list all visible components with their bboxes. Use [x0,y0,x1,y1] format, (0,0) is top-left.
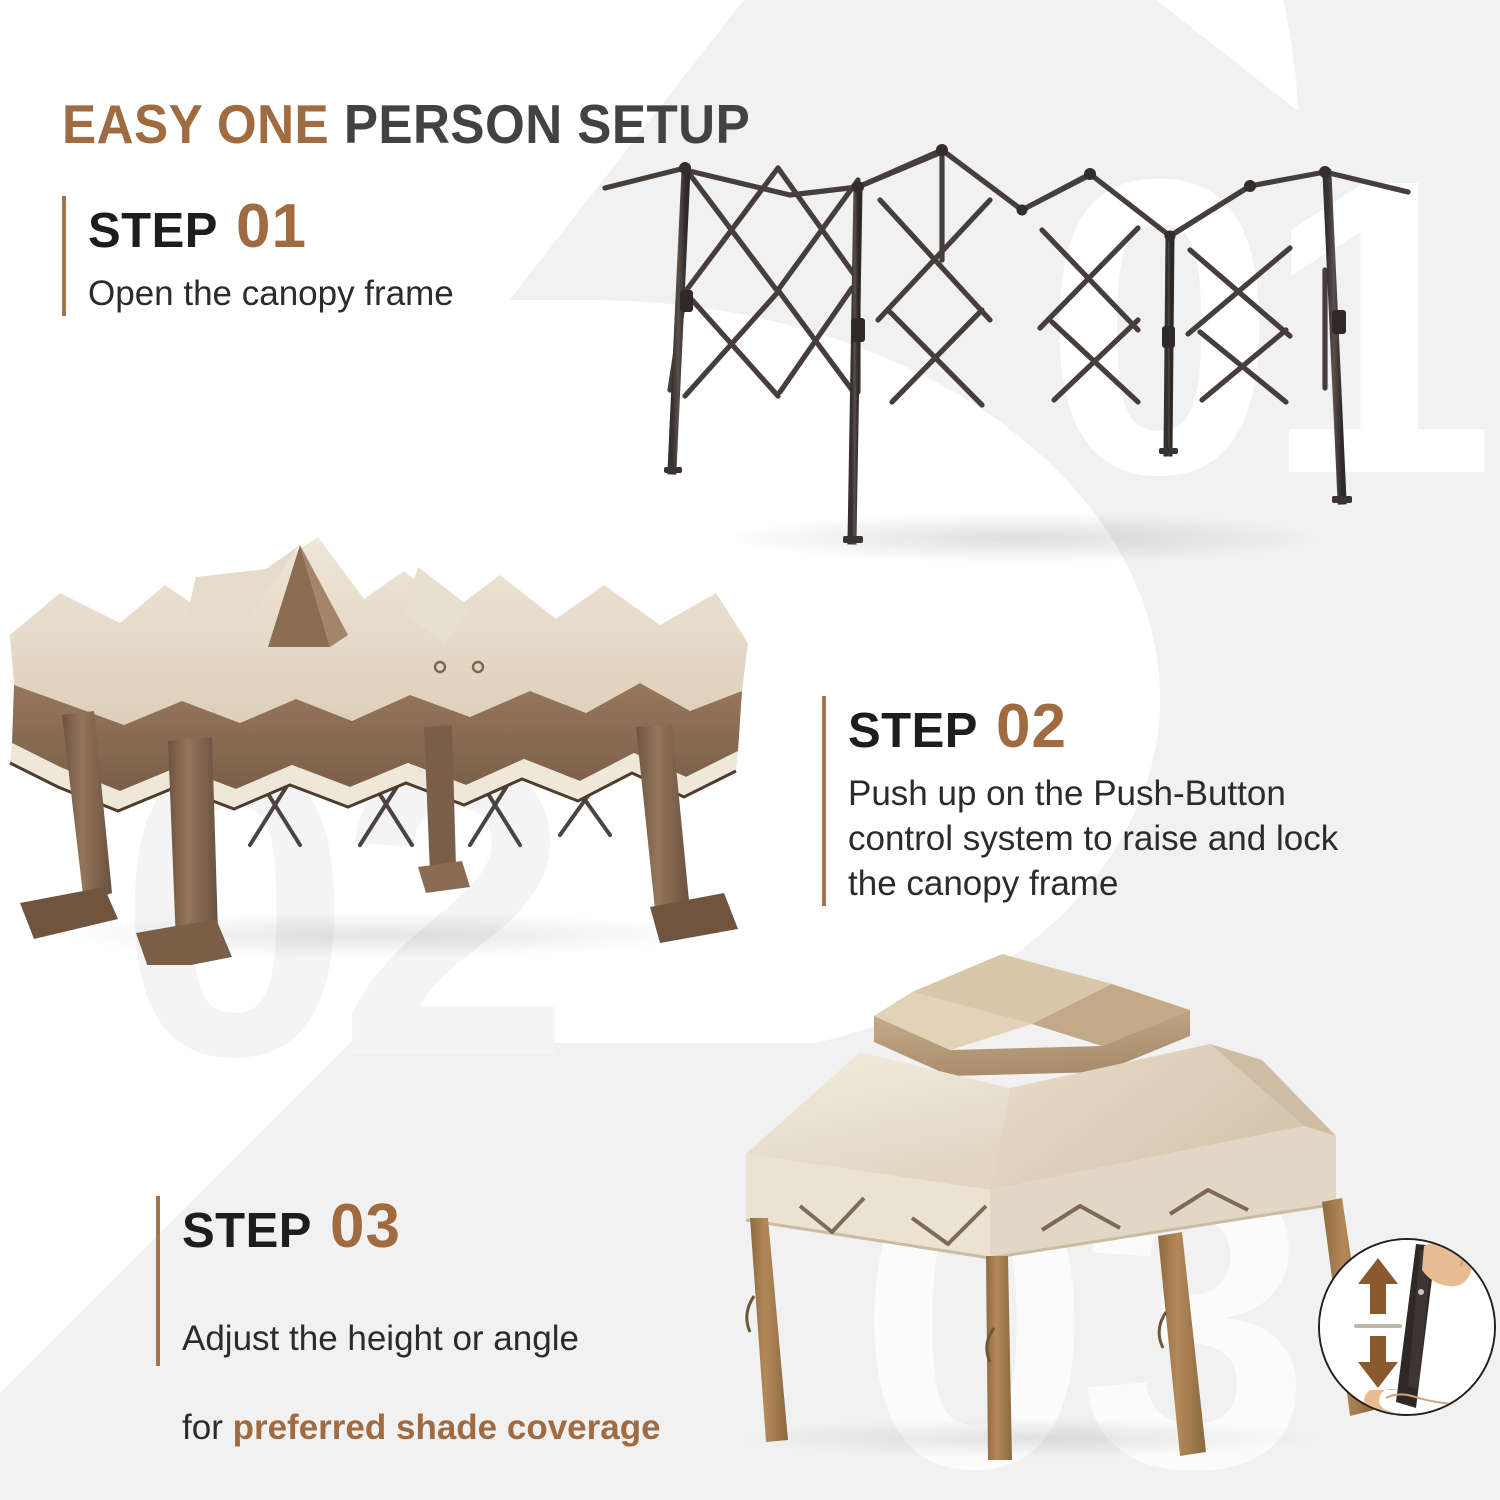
erected-gazebo-image [650,940,1390,1460]
page-title: EASY ONE PERSON SETUP [62,92,750,156]
draped-canopy-image [0,515,760,965]
step-block-03: STEP 03 Adjust the height or angle for p… [156,1196,661,1366]
step-01-heading: STEP 01 [88,196,454,258]
step-03-description: Adjust the height or angle for preferred… [182,1272,661,1451]
step-01-description: Open the canopy frame [88,272,454,317]
step-02-description: Push up on the Push-Button control syste… [848,772,1338,906]
step-01-label: STEP [88,207,218,256]
step-03-line-2-prefix: for [182,1408,233,1447]
step-block-01: STEP 01 Open the canopy frame [62,196,454,316]
infographic-canvas: 01 02 03 [0,0,1500,1500]
step-03-highlight: preferred shade coverage [233,1408,661,1447]
step-01-number: 01 [236,196,307,258]
canopy-frame-image [590,140,1420,570]
step-03-number: 03 [330,1196,401,1258]
step-03-line-1: Adjust the height or angle [182,1319,579,1358]
hand-adjusting-leg-icon [1320,1240,1496,1416]
step-02-label: STEP [848,707,978,756]
step-02-number: 02 [996,696,1067,758]
step-03-heading: STEP 03 [182,1196,661,1258]
step-block-02: STEP 02 Push up on the Push-Button contr… [822,696,1338,906]
headline-dark: PERSON SETUP [329,93,750,155]
step-02-heading: STEP 02 [848,696,1338,758]
step-03-label: STEP [182,1207,312,1256]
headline-accent: EASY ONE [62,93,329,155]
height-adjust-inset [1318,1238,1496,1416]
